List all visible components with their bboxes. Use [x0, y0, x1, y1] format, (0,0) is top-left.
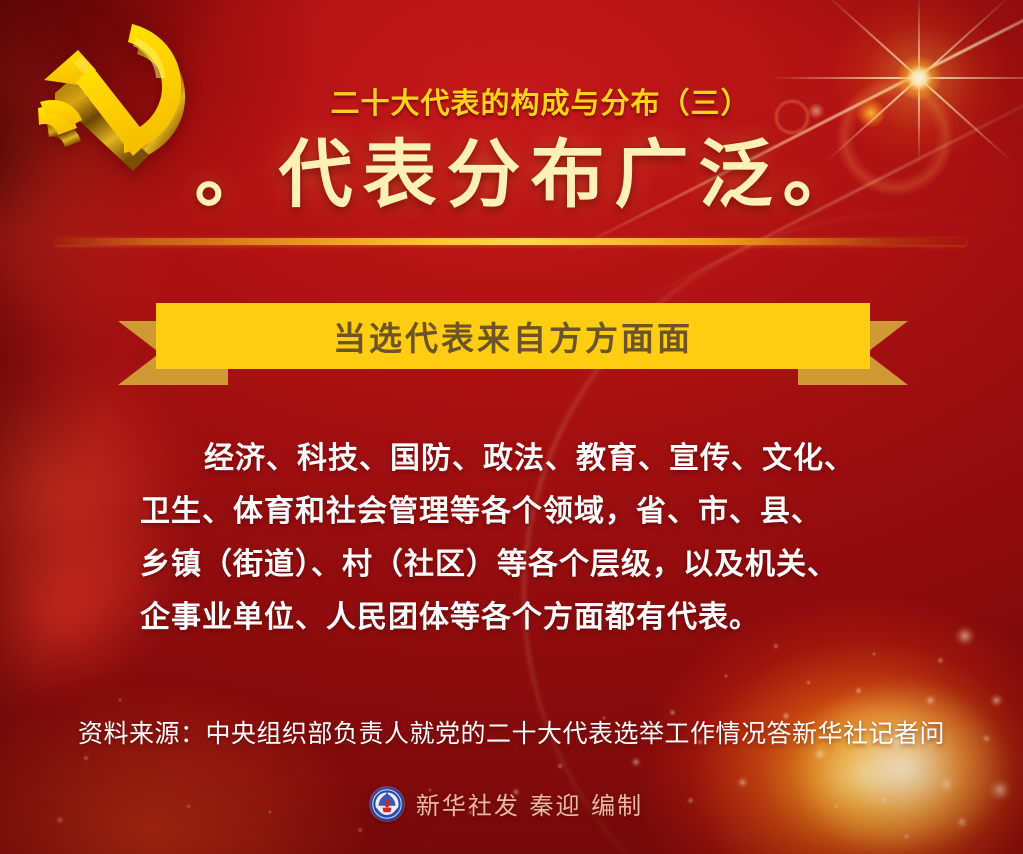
xinhua-news-agency-logo-icon: [370, 787, 404, 821]
poster-subtitle: 二十大代表的构成与分布（三）: [0, 80, 1023, 122]
ribbon-label: 当选代表来自方方面面: [333, 312, 693, 360]
body-line-2: 卫生、体育和社会管理等各个领域，省、市、县、: [140, 485, 885, 538]
poster-root: 二十大代表的构成与分布（三） 。代表分布广泛。 当选代表来自方方面面 经济、科技…: [0, 0, 1023, 854]
body-line-1: 经济、科技、国防、政法、教育、宣传、文化、: [140, 432, 885, 485]
credit-text: 新华社发 秦迎 编制: [416, 786, 643, 821]
body-line-4: 企事业单位、人民团体等各个方面都有代表。: [140, 591, 885, 644]
body-paragraph: 经济、科技、国防、政法、教育、宣传、文化、 卫生、体育和社会管理等各个领域，省、…: [140, 432, 885, 644]
poster-main-title: 。代表分布广泛。: [0, 138, 1023, 212]
gold-divider-rule: [56, 238, 966, 245]
source-note: 资料来源：中央组织部负责人就党的二十大代表选举工作情况答新华社记者问: [0, 714, 1023, 750]
ribbon-body: 当选代表来自方方面面: [156, 303, 870, 369]
gold-ribbon-banner: 当选代表来自方方面面: [118, 303, 908, 385]
body-line-3: 乡镇（街道）、村（社区）等各个层级，以及机关、: [140, 538, 885, 591]
credit-footer: 新华社发 秦迎 编制: [0, 786, 1023, 821]
